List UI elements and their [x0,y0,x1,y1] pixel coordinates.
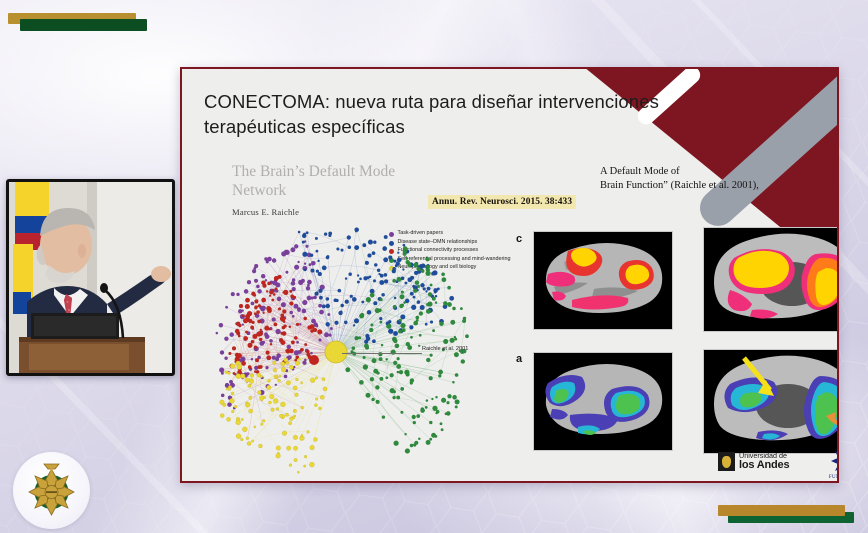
decor-bar-green-top-left [20,19,147,31]
decor-bar-gold-bottom-right [718,505,845,516]
stream-frame: CONECTOMA: nueva ruta para diseñar inter… [0,0,868,533]
panel-label-a: a [516,353,522,365]
callout-label: Raichle et al. 2001 [422,346,468,352]
fsfb-label-line2: SANTA FE DE BOGOTA [812,481,839,483]
speaker-webcam-inset[interactable] [6,179,175,376]
right-quote-line2: Brain Function” (Raichle et al. 2001), [600,179,800,193]
slide-title: CONECTOMA: nueva ruta para diseñar inter… [204,90,724,139]
right-quote-note: A Default Mode of Brain Function” (Raich… [600,165,800,194]
right-quote-line1: A Default Mode of [600,165,800,179]
dmn-network-graph [206,227,476,477]
figure-heading: The Brain’s Default Mode Network Marcus … [232,162,462,217]
callout-leader-line [342,353,422,354]
brain-panel-c-medial [703,227,839,332]
presentation-slide[interactable]: CONECTOMA: nueva ruta para diseñar inter… [180,67,839,483]
logo-universidad-de-los-andes: Universidad de los Andes [718,452,789,471]
figure-heading-line1: The Brain’s Default Mode [232,162,462,181]
fsfb-starburst-icon [830,447,839,475]
brain-panel-a-medial [703,349,839,454]
panel-label-c: c [516,233,522,245]
andes-label-line2: los Andes [739,460,789,471]
brain-panel-c-lateral [533,231,673,330]
journal-citation: Annu. Rev. Neurosci. 2015. 38:433 [428,195,576,209]
andes-shield-icon [718,452,735,471]
logo-fundacion-santa-fe: FUNDACION SANTA FE DE BOGOTA [812,447,839,483]
brain-panel-a-lateral [533,352,673,451]
order-of-merit-medal-emblem [13,452,90,529]
webcam-video [9,182,172,373]
